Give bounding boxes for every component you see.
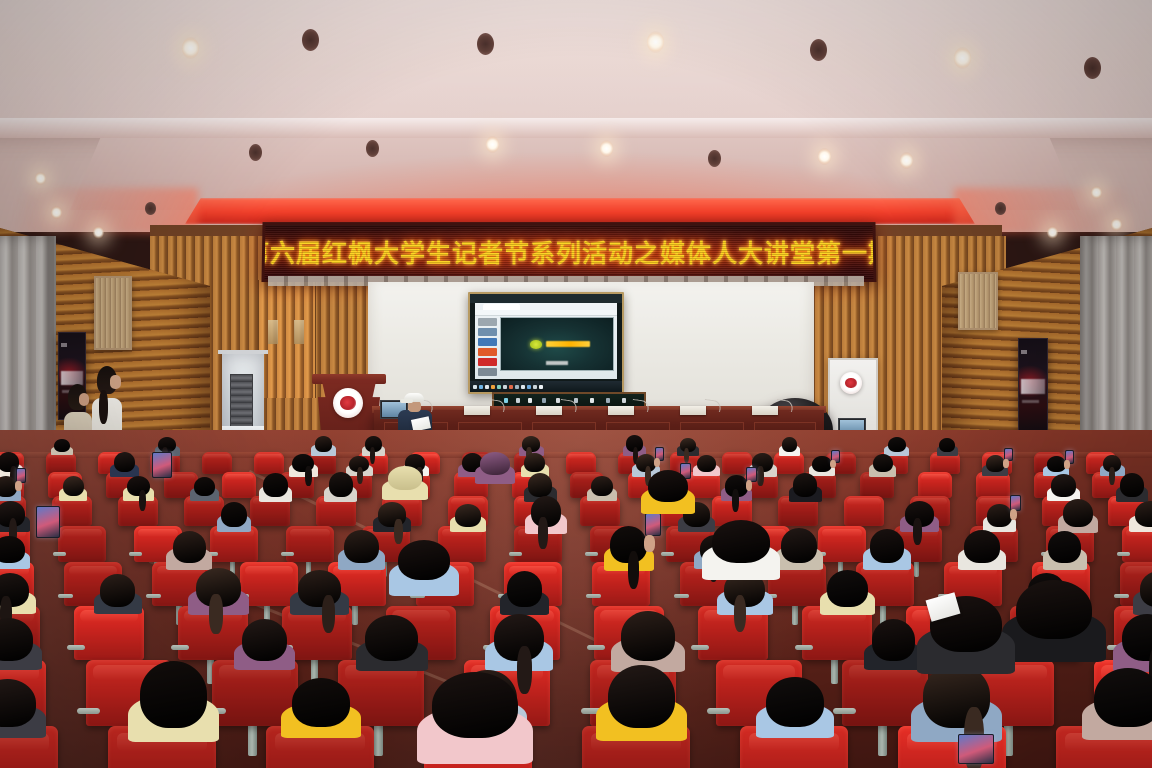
taskbar-icon bbox=[539, 385, 543, 389]
audience-hair bbox=[608, 665, 675, 728]
audience-hair bbox=[292, 678, 350, 727]
audience-hair bbox=[986, 455, 1005, 473]
audience-member bbox=[196, 568, 240, 615]
seat-armrest bbox=[661, 552, 673, 556]
seat-armrest bbox=[171, 645, 189, 650]
audience-hair bbox=[712, 520, 770, 563]
screen-sidebar-tile bbox=[478, 328, 497, 336]
video-subtitle-text bbox=[546, 361, 568, 365]
seat-armrest bbox=[67, 645, 85, 650]
audience-hair bbox=[964, 530, 1000, 562]
taskbar-icon bbox=[473, 385, 477, 389]
raised-hand bbox=[644, 535, 655, 552]
seat-armrest bbox=[1114, 594, 1129, 598]
audience-member bbox=[1103, 455, 1122, 477]
ceiling-downlight-off bbox=[366, 140, 379, 157]
taskbar-icon bbox=[527, 385, 531, 389]
board-indicator bbox=[516, 398, 520, 403]
audience-member bbox=[782, 437, 797, 455]
seat-armrest bbox=[77, 708, 99, 715]
audience-hair bbox=[939, 438, 955, 453]
ceiling-cove-light bbox=[185, 198, 975, 224]
audience-ponytail bbox=[305, 466, 311, 486]
audience-member bbox=[315, 436, 333, 456]
ceiling-downlight-on bbox=[486, 136, 499, 153]
standing-face bbox=[110, 375, 121, 389]
seat-armrest bbox=[691, 645, 709, 650]
audience-hair bbox=[1051, 474, 1075, 496]
raised-phone[interactable] bbox=[152, 452, 172, 478]
audience-ponytail bbox=[370, 447, 375, 464]
ceiling-downlight-on bbox=[182, 37, 199, 59]
standing-ponytail bbox=[99, 390, 108, 424]
person-white-top bbox=[712, 520, 770, 580]
audience-hair bbox=[298, 570, 342, 607]
audience-member bbox=[173, 531, 207, 570]
led-banner: 第六届红枫大学生记者节系列活动之媒体人大讲堂第一期 bbox=[261, 222, 876, 282]
audience-member bbox=[114, 452, 135, 477]
audience-ponytail bbox=[628, 551, 639, 589]
ceiling-step bbox=[0, 118, 1152, 138]
taskbar-icon bbox=[485, 385, 489, 389]
seat-armrest bbox=[1117, 552, 1129, 556]
poster-top-bar bbox=[61, 343, 67, 346]
seat-armrest bbox=[146, 594, 161, 598]
audience-member bbox=[987, 504, 1011, 532]
taskbar-icon bbox=[503, 385, 507, 389]
audience-hair bbox=[782, 437, 797, 452]
seat-leg bbox=[831, 658, 838, 684]
air-vent-left bbox=[94, 276, 132, 350]
audience-member bbox=[591, 476, 613, 501]
seat-armrest bbox=[509, 552, 521, 556]
projection-screen bbox=[468, 292, 624, 394]
audience-member bbox=[905, 501, 934, 533]
audience-ponytail bbox=[517, 646, 532, 695]
audience-member bbox=[1140, 571, 1152, 615]
audience-member bbox=[697, 455, 716, 476]
audience-member bbox=[1051, 474, 1075, 501]
audience-member bbox=[298, 570, 342, 615]
storage-rack bbox=[230, 374, 254, 433]
audience-member bbox=[0, 536, 25, 569]
seat-armrest bbox=[833, 708, 855, 715]
audience-hair bbox=[873, 454, 893, 473]
audience-member bbox=[986, 455, 1005, 477]
audience-hair bbox=[507, 571, 542, 606]
ceiling-downlight-off bbox=[1084, 57, 1101, 79]
audience-member bbox=[292, 678, 350, 738]
audience-ponytail bbox=[1109, 467, 1115, 485]
audience-member bbox=[610, 526, 647, 571]
seat-armrest bbox=[674, 594, 689, 598]
doorway-header bbox=[218, 350, 268, 354]
audience-member bbox=[365, 615, 418, 671]
screen-sidebar-tile bbox=[478, 338, 497, 346]
handheld-phone[interactable] bbox=[958, 734, 994, 764]
audience-hair bbox=[1047, 456, 1066, 472]
university-seal-door bbox=[840, 372, 862, 394]
audience-member bbox=[964, 530, 1000, 569]
auditorium-seat bbox=[286, 526, 334, 562]
board-indicator bbox=[622, 398, 626, 403]
audience-hair bbox=[888, 437, 906, 452]
audience-hair bbox=[648, 470, 688, 502]
auditorium-seat bbox=[818, 526, 866, 562]
audience-ponytail bbox=[139, 490, 146, 511]
audience-member bbox=[0, 679, 36, 738]
audience-hair bbox=[140, 661, 207, 728]
air-vent-right bbox=[958, 272, 998, 330]
audience-member bbox=[1094, 668, 1152, 740]
audience-member bbox=[378, 502, 406, 531]
audience-member bbox=[1120, 473, 1144, 502]
table-nameplate bbox=[680, 406, 706, 415]
audience-hair bbox=[827, 570, 868, 607]
auditorium-seat bbox=[254, 452, 284, 474]
auditorium-seat bbox=[74, 606, 144, 660]
audience-hair bbox=[591, 476, 613, 496]
video-caption-text bbox=[546, 341, 591, 347]
screen-sidebar-tile bbox=[478, 358, 497, 366]
audience-member bbox=[140, 661, 207, 743]
audience-member bbox=[63, 476, 84, 501]
table-nameplate bbox=[464, 406, 490, 415]
raised-hand bbox=[830, 460, 836, 469]
audience-member bbox=[242, 619, 287, 670]
screen-sidebar-tiles bbox=[477, 317, 498, 377]
screen-sidebar-tile bbox=[478, 348, 497, 356]
audience-hair bbox=[621, 611, 676, 661]
audience-hair bbox=[1094, 668, 1152, 727]
raised-phone[interactable] bbox=[645, 513, 660, 536]
ceiling-downlight-on bbox=[93, 226, 104, 239]
seat-armrest bbox=[587, 645, 605, 650]
audience-member bbox=[827, 570, 868, 615]
audience-hair bbox=[173, 531, 207, 563]
audience-hair bbox=[114, 452, 135, 472]
seat-leg bbox=[878, 724, 887, 756]
audience-member bbox=[1135, 501, 1152, 533]
audience-member bbox=[0, 501, 25, 533]
ceiling-downlight-off bbox=[249, 144, 262, 161]
ceiling-downlight-off bbox=[302, 29, 319, 51]
table-nameplate bbox=[752, 406, 778, 415]
desktop-taskbar bbox=[470, 381, 622, 392]
audience-hair bbox=[872, 619, 915, 661]
raised-hand bbox=[1003, 459, 1009, 468]
taskbar-icon bbox=[515, 385, 519, 389]
taskbar-icon bbox=[491, 385, 495, 389]
ceiling bbox=[0, 0, 1152, 232]
screen-top-strip bbox=[470, 294, 622, 303]
board-indicator bbox=[528, 398, 532, 403]
audience-hair bbox=[100, 574, 135, 607]
audience-hair bbox=[432, 672, 518, 738]
ceiling-downlight-on bbox=[900, 152, 913, 169]
door-window-b bbox=[294, 320, 304, 344]
audience-hair bbox=[398, 540, 450, 580]
person-purple-hair bbox=[480, 452, 510, 484]
seat-armrest bbox=[585, 552, 597, 556]
poster-title-text bbox=[1021, 379, 1045, 394]
led-banner-text: 第六届红枫大学生记者节系列活动之媒体人大讲堂第一期 bbox=[265, 225, 874, 279]
auditorium-seat bbox=[58, 526, 106, 562]
audience-member bbox=[793, 473, 817, 501]
board-indicator bbox=[590, 398, 594, 403]
taskbar-icon bbox=[497, 385, 501, 389]
poster-title-text bbox=[61, 371, 83, 385]
audience-ponytail bbox=[757, 466, 763, 486]
audience-hair bbox=[315, 436, 333, 452]
audience-hair bbox=[194, 477, 215, 496]
audience-hair bbox=[221, 502, 246, 527]
audience-hair bbox=[528, 473, 552, 496]
audience-hair bbox=[480, 452, 510, 475]
audience-member bbox=[608, 665, 675, 741]
projection-screen-image bbox=[470, 294, 622, 392]
ceiling-downlight-on bbox=[35, 172, 46, 185]
board-indicator bbox=[606, 398, 610, 403]
audience-ponytail bbox=[732, 489, 739, 511]
audience-member bbox=[1048, 531, 1081, 570]
seat-leg bbox=[914, 560, 919, 577]
audience-member bbox=[365, 436, 382, 456]
audience-member bbox=[870, 529, 905, 570]
video-player-area bbox=[500, 317, 613, 371]
audience-hair bbox=[793, 473, 817, 496]
video-logo-icon bbox=[530, 340, 542, 348]
audience-hair bbox=[697, 455, 716, 472]
audience-ponytail bbox=[734, 595, 746, 632]
audience-member bbox=[873, 454, 893, 477]
seat-leg bbox=[248, 724, 257, 756]
audience-hair bbox=[781, 528, 817, 562]
audience-member bbox=[0, 573, 29, 615]
audience-member bbox=[0, 618, 33, 670]
audience-member bbox=[194, 477, 215, 501]
board-indicator bbox=[542, 398, 546, 403]
seat-armrest bbox=[53, 552, 65, 556]
audience-cap bbox=[388, 466, 422, 490]
audience-hair bbox=[344, 530, 378, 563]
raised-hand bbox=[746, 480, 753, 490]
audience-hair bbox=[0, 536, 25, 563]
seat-armrest bbox=[129, 552, 141, 556]
audience-hair bbox=[870, 529, 905, 563]
audience-member bbox=[263, 473, 288, 502]
audience-member bbox=[531, 496, 562, 534]
ceiling-slab-upper bbox=[0, 0, 1152, 130]
browser-toolbar bbox=[475, 310, 618, 316]
audience-hair bbox=[812, 456, 831, 473]
audience-member bbox=[292, 454, 313, 477]
audience-member bbox=[680, 438, 696, 456]
audience-ponytail bbox=[209, 594, 222, 634]
audience-member bbox=[455, 504, 481, 532]
ceiling-downlight-off bbox=[477, 33, 494, 55]
poster-top-bar bbox=[1021, 350, 1027, 354]
seat-leg bbox=[792, 604, 798, 625]
audience-hair bbox=[1048, 531, 1081, 563]
person-pink-top bbox=[432, 672, 518, 764]
raised-hand bbox=[15, 481, 21, 491]
audience-member bbox=[923, 664, 990, 742]
ceiling-downlight-off bbox=[810, 39, 827, 61]
audience-ponytail bbox=[357, 467, 363, 484]
event-poster-right bbox=[1018, 338, 1048, 432]
presenter-cap bbox=[404, 393, 424, 402]
screen-sidebar-tile bbox=[478, 368, 497, 376]
auditorium-seat bbox=[222, 472, 256, 498]
ceiling-downlight-off bbox=[145, 202, 156, 215]
seat-armrest bbox=[58, 594, 73, 598]
raised-hand bbox=[1010, 509, 1017, 520]
ceiling-downlight-off bbox=[995, 202, 1006, 215]
poster-sub-text bbox=[1022, 400, 1039, 404]
person-light-blue-top bbox=[398, 540, 450, 596]
table-nameplate bbox=[608, 406, 634, 415]
audience-hair bbox=[455, 504, 481, 527]
audience-member bbox=[939, 438, 955, 456]
audience-hair bbox=[329, 472, 353, 496]
audience-member bbox=[872, 619, 915, 670]
seat-leg bbox=[352, 604, 358, 625]
audience-member bbox=[54, 439, 70, 456]
audience-hair bbox=[987, 504, 1011, 527]
audience-member bbox=[344, 530, 378, 570]
audience-hair bbox=[524, 453, 544, 472]
seat-armrest bbox=[281, 552, 293, 556]
audience-hair bbox=[766, 677, 823, 728]
ceiling-downlight-on bbox=[647, 31, 664, 53]
audience-member bbox=[1063, 499, 1093, 533]
taskbar-icon bbox=[509, 385, 513, 389]
ceiling-downlight-off bbox=[708, 150, 721, 167]
audience-hair bbox=[1122, 614, 1152, 662]
audience-hair bbox=[63, 476, 84, 496]
university-seal-podium bbox=[333, 388, 363, 418]
audience-member bbox=[781, 528, 817, 570]
audience-hair bbox=[263, 473, 288, 497]
handheld-phone[interactable] bbox=[36, 506, 60, 538]
audience-member bbox=[766, 677, 823, 739]
auditorium-seat bbox=[918, 472, 952, 498]
stage-double-door-left[interactable] bbox=[258, 280, 316, 398]
audience-hair bbox=[1135, 501, 1152, 527]
auditorium-seat bbox=[566, 452, 596, 474]
auditorium-seat bbox=[844, 496, 884, 526]
audience-ponytail bbox=[913, 518, 922, 545]
audience-hair bbox=[1120, 473, 1144, 497]
audience-hair bbox=[1063, 499, 1093, 527]
taskbar-icon bbox=[479, 385, 483, 389]
ceiling-downlight-on bbox=[51, 206, 62, 219]
audience-member bbox=[127, 476, 150, 501]
audience-ponytail bbox=[684, 448, 689, 463]
auditorium-photo: 第六届红枫大学生记者节系列活动之媒体人大讲堂第一期 bbox=[0, 0, 1152, 768]
audience-member bbox=[494, 614, 544, 671]
ceiling-downlight-on bbox=[818, 148, 831, 165]
seat-armrest bbox=[586, 594, 601, 598]
ceiling-downlight-on bbox=[954, 47, 971, 69]
audience-hair bbox=[54, 439, 70, 453]
standing-face bbox=[79, 393, 89, 406]
screen-sidebar-tile bbox=[478, 318, 497, 326]
person-yellow-jacket bbox=[648, 470, 688, 514]
raised-hand bbox=[1064, 460, 1070, 469]
person-black-white-track-jacket bbox=[1016, 580, 1092, 662]
audience-member bbox=[100, 574, 135, 614]
audience-member bbox=[1047, 456, 1066, 476]
ceiling-downlight-on bbox=[1091, 186, 1102, 199]
audience-hair bbox=[242, 619, 287, 661]
audience-ponytail bbox=[538, 517, 547, 549]
seat-armrest bbox=[707, 708, 729, 715]
audience-member bbox=[221, 502, 246, 533]
audience-ponytail bbox=[322, 595, 335, 633]
ceiling-downlight-on bbox=[1111, 218, 1122, 231]
browser-window bbox=[475, 303, 618, 379]
board-indicator bbox=[504, 398, 508, 403]
ceiling-downlight-on bbox=[1047, 226, 1058, 239]
audience-member bbox=[507, 571, 542, 614]
table-nameplate bbox=[536, 406, 562, 415]
audience-member bbox=[621, 611, 676, 672]
person-beige-cap bbox=[388, 466, 422, 500]
audience-member bbox=[1122, 614, 1152, 672]
audience-hair bbox=[1016, 580, 1092, 639]
ceiling-downlight-on bbox=[600, 140, 613, 157]
auditorium-seat bbox=[202, 452, 232, 474]
door-window-a bbox=[268, 320, 278, 344]
audience-hair bbox=[365, 615, 418, 661]
seat-armrest bbox=[795, 645, 813, 650]
taskbar-icon bbox=[521, 385, 525, 389]
audience-member bbox=[725, 475, 748, 501]
audience-member bbox=[329, 472, 353, 502]
taskbar-icon bbox=[533, 385, 537, 389]
seat-leg bbox=[374, 724, 383, 756]
